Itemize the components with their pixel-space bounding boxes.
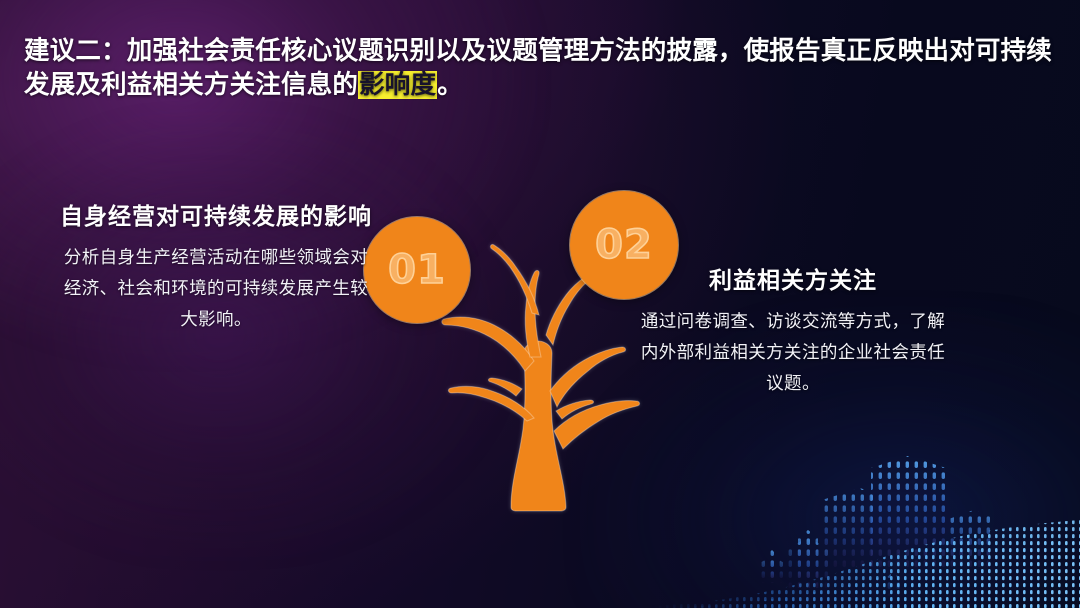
slide-title: 建议二：加强社会责任核心议题识别以及议题管理方法的披露，使报告真正反映出对可持续… — [24, 34, 1059, 102]
node-body-02: 通过问卷调查、访谈交流等方式，了解内外部利益相关方关注的企业社会责任议题。 — [640, 306, 946, 399]
node-heading-01: 自身经营对可持续发展的影响 — [60, 198, 372, 242]
title-highlight-text: 影响度 — [358, 71, 437, 99]
node-heading-02: 利益相关方关注 — [640, 262, 946, 306]
node-circle-01[interactable]: 01 — [364, 217, 470, 323]
slide-canvas: 建议二：加强社会责任核心议题识别以及议题管理方法的披露，使报告真正反映出对可持续… — [0, 0, 1080, 608]
title-prefix-text: 建议二：加强社会责任核心议题识别以及议题管理方法的披露，使报告真正反映出对可持续… — [24, 37, 1052, 99]
node-number-01: 01 — [388, 247, 446, 293]
title-suffix-text: 。 — [437, 71, 463, 99]
node-body-01: 分析自身生产经营活动在哪些领域会对经济、社会和环境的可持续发展产生较大影响。 — [60, 242, 372, 335]
text-block-01: 自身经营对可持续发展的影响 分析自身生产经营活动在哪些领域会对经济、社会和环境的… — [60, 198, 372, 335]
particle-wave-icon — [650, 498, 1080, 608]
city-skyline-icon — [750, 438, 1080, 608]
text-block-02: 利益相关方关注 通过问卷调查、访谈交流等方式，了解内外部利益相关方关注的企业社会… — [640, 262, 946, 399]
